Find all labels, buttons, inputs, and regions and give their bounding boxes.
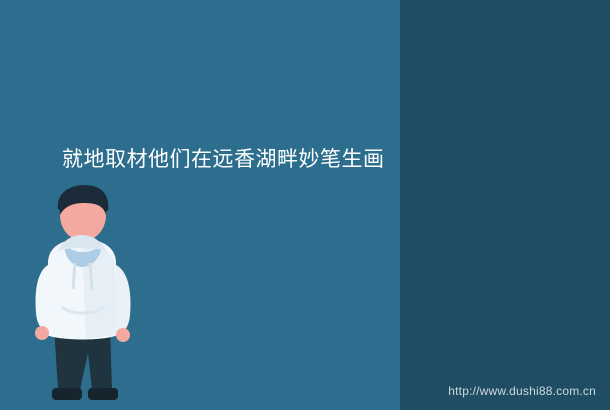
headline-text: 就地取材他们在远香湖畔妙笔生画 [62,146,582,174]
left-shoe [52,388,82,400]
drawstring-left [73,263,75,289]
person-illustration [18,185,148,410]
watermark-url: http://www.dushi88.com.cn [448,384,596,398]
right-shoe [88,388,118,400]
background-right-panel [400,0,610,410]
right-arm [114,265,130,333]
left-hand [35,326,49,340]
drawstring-right [90,263,92,289]
right-hand [116,328,130,342]
image-canvas: 就地取材他们在远香湖畔妙笔生画 http://www.dushi88.com.c… [0,0,610,410]
